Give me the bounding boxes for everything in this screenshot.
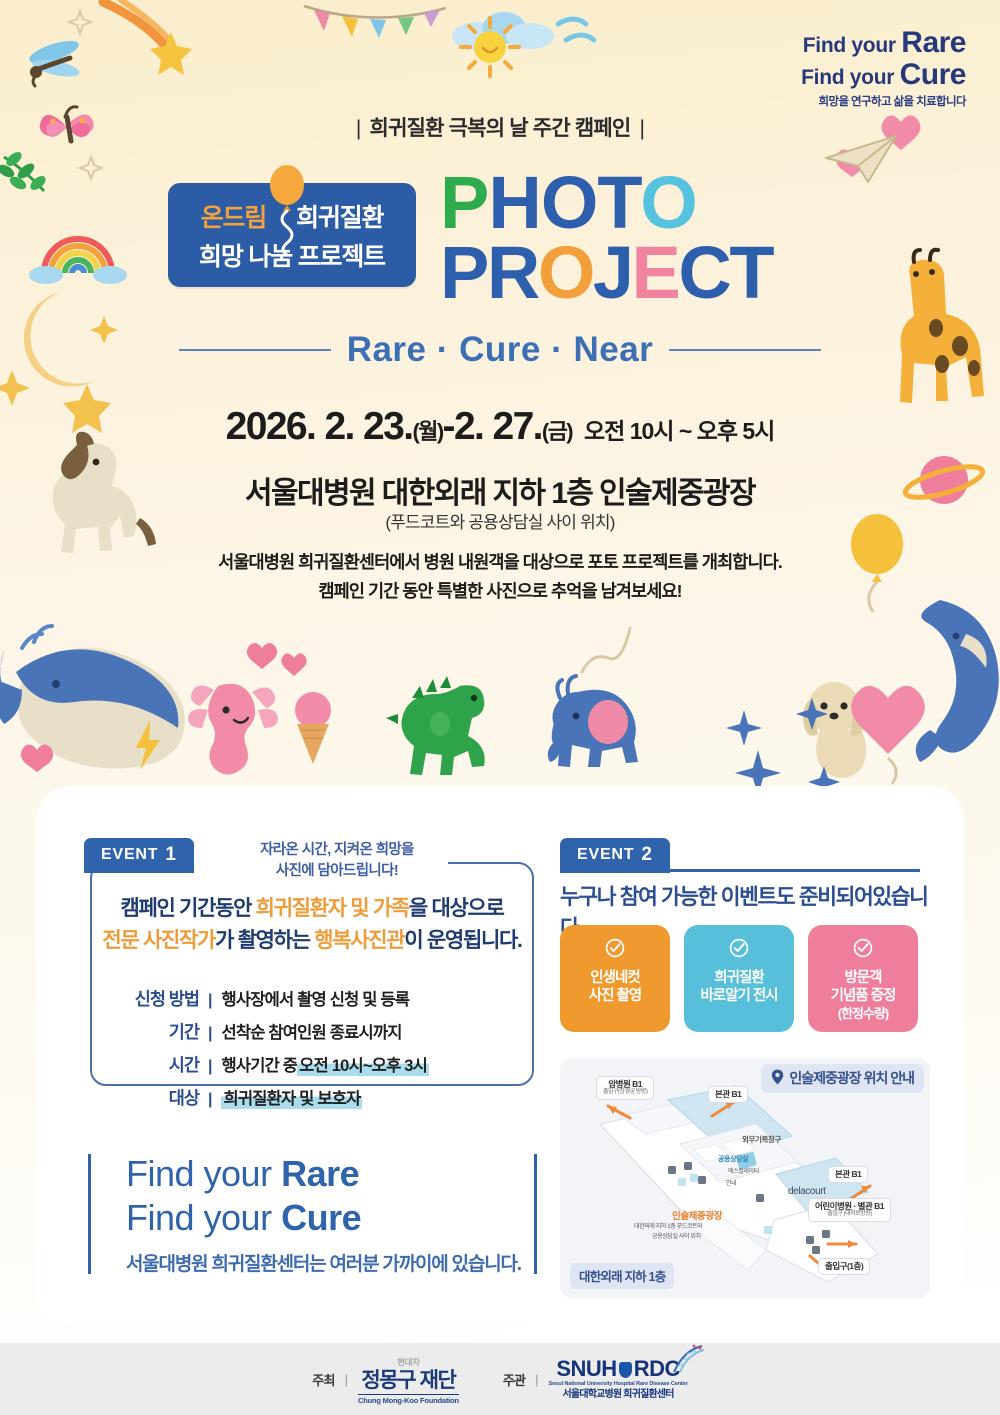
brandmark: Find your Rare Find your Cure 희망을 연구하고 삶…: [801, 28, 966, 109]
event2-card-label: 인생네컷 사진 촬영: [589, 969, 641, 1005]
sparkle-doodle: [78, 155, 104, 181]
check-icon: [605, 938, 625, 963]
dragonfly-doodle: [18, 30, 108, 100]
hearts-pair-doodle: [246, 638, 316, 708]
heart-balloon-doodle: [848, 664, 958, 784]
footer-bar: 주최 | 현대차 정몽구 재단 Chung Mong-Koo Foundatio…: [0, 1343, 1000, 1415]
event1-headline-2a: 전문 사진작가: [102, 929, 215, 952]
detail-row: 시간| 행사기간 중 오전 10시~오후 3시: [90, 1052, 534, 1077]
shield-icon: [619, 1362, 632, 1378]
snuh-logo-sub-ko: 서울대학교병원 희귀질환센터: [549, 1390, 688, 1400]
wordmark-line2-text: PROJECT: [440, 231, 774, 314]
snuh-rdc-wordmark: SNUH RDC: [549, 1358, 688, 1380]
event2-card-label: 희귀질환 바로알기 전시: [700, 969, 777, 1005]
map-label: 어린이병원 · 별관 B1 출입구 (대학로방향): [808, 1198, 891, 1222]
event1-headline-row2: 전문 사진작가가 촬영하는 행복사진관이 운영됩니다.: [90, 925, 534, 957]
event-place: 서울대병원 대한외래 지하 1층 인술제중광장: [0, 468, 1000, 512]
slogan-line2-prefix: Find your: [126, 1197, 281, 1238]
detail-value: 행사장에서 촬영 신청 및 등록: [221, 986, 409, 1010]
event2-card[interactable]: 방문객 기념품 증정 (한정수량): [808, 925, 918, 1032]
detail-row: 기간| 선착순 참여인원 종료시까지: [90, 1019, 534, 1044]
tagline-rule-right: [669, 349, 821, 351]
cmk-logo-main: 정몽구 재단: [358, 1370, 459, 1395]
event2-card-line3: (한정수량): [838, 1006, 889, 1021]
map-highlight-sub-line2: 공용상담실 사이 위치: [652, 1233, 701, 1241]
cmk-logo-top: 현대차: [397, 1357, 419, 1367]
sun-doodle: [455, 12, 525, 82]
map-text: 에스컬레이터: [728, 1168, 759, 1176]
map-floor-badge: 대한외래 지하 1층: [570, 1263, 674, 1289]
check-icon: [729, 938, 749, 963]
event2-card[interactable]: 희귀질환 바로알기 전시: [684, 925, 794, 1032]
brandmark-subtitle: 희망을 연구하고 삶을 치료합니다: [801, 97, 966, 109]
event2-rule: [560, 869, 920, 872]
slogan-block: Find your Rare Find your Cure 서울대병원 희귀질환…: [88, 1152, 538, 1276]
event2-card-line2: 사진 촬영: [589, 988, 641, 1004]
map-label: 본관 B1: [708, 1086, 748, 1103]
detail-key: 대상: [90, 1085, 208, 1110]
photo-project-wordmark: PHOTO PROJECT: [440, 170, 840, 320]
event2-tab[interactable]: EVENT2: [560, 838, 670, 873]
rare-cure-near-tagline: Rare · Cure · Near: [0, 330, 1000, 370]
brandmark-line2-word: Cure: [900, 58, 966, 91]
event2-card-label: 방문객 기념품 증정 (한정수량): [831, 969, 896, 1023]
snuh-rdc-logo: SNUH RDC Seoul National University Hospi…: [549, 1358, 688, 1400]
host-role-label: 주최: [312, 1370, 334, 1389]
dna-icon: [670, 1344, 704, 1378]
event1-headline: 캠페인 기간동안 희귀질환자 및 가족을 대상으로 전문 사진작가가 촬영하는 …: [90, 893, 534, 956]
slogan-rule-left: [88, 1154, 91, 1274]
event1-headline-1c: 을 대상으로: [409, 897, 504, 920]
kicker-bar-left: |: [356, 117, 361, 140]
event2-card-line2: 기념품 증정: [831, 988, 896, 1004]
detail-value-plain: 행사기간 중: [221, 1052, 297, 1076]
event2-card-line1: 방문객: [844, 970, 881, 986]
event1-tab-inner: EVENT1: [84, 838, 194, 873]
map-label-sub: 출입구 (대학로방향): [815, 1211, 884, 1218]
event1-headline-2d: 이 운영됩니다.: [404, 929, 521, 952]
event1-detail-list: 신청 방법| 행사장에서 촬영 신청 및 등록 기간| 선착순 참여인원 종료시…: [90, 986, 534, 1118]
location-pin-icon: [771, 1069, 784, 1088]
date-dash: -: [443, 405, 454, 448]
kicker-bar-right: |: [639, 117, 644, 140]
slogan-line1-prefix: Find your: [126, 1153, 281, 1194]
event2-card-line1: 인생네컷: [590, 970, 639, 986]
event1-headline-row1: 캠페인 기간동안 희귀질환자 및 가족을 대상으로: [90, 893, 534, 925]
event-description-line2: 캠페인 기간 동안 특별한 사진으로 추억을 남겨보세요!: [0, 577, 1000, 606]
date-start: 2026. 2. 23.: [226, 405, 413, 448]
event2-card-line2: 바로알기 전시: [700, 988, 777, 1004]
star-burst-doodle: [720, 690, 840, 800]
tagline-text: Rare · Cure · Near: [347, 330, 654, 370]
brandmark-line2-prefix: Find your: [801, 66, 900, 89]
slogan-line1-bold: Rare: [281, 1153, 359, 1194]
event-description: 서울대병원 희귀질환센터에서 병원 내원객을 대상으로 포토 프로젝트를 개최합…: [0, 548, 1000, 606]
chung-mong-koo-foundation-logo: 현대차 정몽구 재단 Chung Mong-Koo Foundation: [358, 1353, 459, 1405]
event-dateline: 2026. 2. 23.(월)-2. 27.(금)오전 10시 ~ 오후 5시: [0, 405, 1000, 449]
slogan-rule-right: [534, 1154, 537, 1274]
location-map-panel[interactable]: 암병원 B1 출입구(창경궁 방향) 본관 B1 본관 B1 어린이병원 · 별…: [560, 1058, 930, 1298]
badge-line1: 온드림희귀질환: [201, 198, 384, 234]
event2-tab-inner: EVENT2: [560, 838, 670, 873]
detail-value: 오전 10시~오후 3시: [297, 1052, 429, 1076]
squiggle-doodle: [572, 618, 642, 678]
snuh-text: SNUH: [556, 1358, 616, 1380]
event1-tab-number: 1: [165, 844, 176, 866]
event1-tagline-line1: 자라온 시간, 지켜온 희망을: [232, 840, 442, 861]
event2-card[interactable]: 인생네컷 사진 촬영: [560, 925, 670, 1032]
map-label: 암병원 B1 출입구(창경궁 방향): [596, 1076, 654, 1100]
dinosaur-doodle: [382, 672, 502, 776]
event-description-line1: 서울대병원 희귀질환센터에서 병원 내원객을 대상으로 포토 프로젝트를 개최합…: [0, 548, 1000, 577]
map-label: 출입구(1층): [818, 1258, 870, 1275]
detail-row: 대상| 희귀질환자 및 보호자: [90, 1085, 534, 1110]
badge-line1-highlight: 온드림: [201, 204, 266, 232]
map-highlight-label: 인술제중광장: [672, 1208, 722, 1222]
bunting-doodle: [300, 0, 450, 50]
dolphin-doodle: [900, 590, 1000, 770]
check-icon: [853, 938, 873, 963]
detail-key: 시간: [90, 1052, 208, 1077]
map-text: 안내: [726, 1180, 736, 1188]
map-banner-text: 인술제중광장 위치 안내: [789, 1068, 914, 1088]
tagline-rule-left: [179, 349, 331, 351]
heart-doodle-2: [835, 145, 869, 177]
leaf-doodle: [0, 145, 60, 205]
axolotl-doodle: [178, 670, 288, 780]
event1-tab[interactable]: EVENT1: [84, 838, 194, 873]
poster-root: Find your Rare Find your Cure 희망을 연구하고 삶…: [0, 0, 1000, 1415]
elephant-doodle: [532, 676, 662, 776]
map-label-title: 본관 B1: [835, 1169, 861, 1179]
small-star-doodle: [66, 8, 94, 36]
event2-tab-number: 2: [641, 844, 652, 866]
map-text: 공용상담실: [718, 1154, 748, 1164]
whale-doodle: [0, 600, 230, 790]
event-time: 오전 10시 ~ 오후 5시: [584, 418, 774, 444]
map-text: 외무기록창구: [742, 1134, 781, 1145]
badge-line2: 희망 나눔 프로젝트: [199, 237, 385, 273]
event2-card-line1: 희귀질환: [714, 970, 763, 986]
map-banner: 인술제중광장 위치 안내: [761, 1064, 924, 1093]
event1-headline-1a: 캠페인 기간동안: [120, 897, 255, 920]
host-divider: |: [345, 1372, 348, 1387]
day-start: (월): [412, 419, 442, 444]
ondream-badge: 온드림희귀질환 희망 나눔 프로젝트: [168, 183, 416, 287]
event1-headline-1b: 희귀질환자 및 가족: [256, 897, 409, 920]
map-label: 본관 B1: [828, 1166, 868, 1183]
snuh-logo-sub-en: Seoul National University Hospital Rare …: [549, 1382, 688, 1388]
map-label-title: 출입구(1층): [825, 1261, 863, 1271]
detail-key: 기간: [90, 1019, 208, 1044]
lightning-doodle: [130, 718, 166, 772]
slogan-line2-bold: Cure: [281, 1197, 361, 1238]
campaign-kicker: |희귀질환 극복의 날 주간 캠페인|: [0, 112, 1000, 142]
cloud-doodle: [430, 0, 610, 70]
event1-tagline-line2: 사진에 담아드립니다!: [232, 861, 442, 882]
cmk-logo-sub: Chung Mong-Koo Foundation: [358, 1397, 459, 1405]
host-group: 주최 | 현대차 정몽구 재단 Chung Mong-Koo Foundatio…: [312, 1353, 459, 1405]
event-place-sub: (푸드코트와 공용상담실 사이 위치): [0, 508, 1000, 533]
detail-value: 선착순 참여인원 종료시까지: [221, 1019, 401, 1043]
organizer-divider: |: [535, 1372, 538, 1387]
map-text: delacourt: [788, 1186, 826, 1197]
puppy-doodle: [790, 672, 880, 782]
detail-key: 신청 방법: [90, 986, 208, 1011]
rainbow-doodle: [30, 215, 130, 285]
map-highlight-sub-line1: 대한외래 지하 1층 푸드코트와: [634, 1223, 702, 1231]
event1-tagline: 자라온 시간, 지켜온 희망을 사진에 담아드립니다!: [232, 840, 442, 882]
detail-value: 희귀질환자 및 보호자: [221, 1085, 362, 1109]
map-label-title: 본관 B1: [715, 1089, 741, 1099]
shooting-star-doodle: [95, 0, 215, 80]
slogan-line3: 서울대병원 희귀질환센터는 여러분 가까이에 있습니다.: [126, 1253, 538, 1276]
brandmark-line1-word: Rare: [901, 26, 966, 59]
heart-doodle-3: [20, 740, 54, 772]
event1-tab-label: EVENT: [101, 846, 158, 864]
slogan-line1: Find your Rare: [126, 1152, 538, 1196]
event2-card-list: 인생네컷 사진 촬영 희귀질환 바로알기 전시 방문객 기념품 증정 (한정수량…: [560, 925, 918, 1032]
icecream-doodle: [285, 688, 341, 768]
slogan-line2: Find your Cure: [126, 1196, 538, 1240]
map-label-title: 암병원 B1: [608, 1079, 642, 1089]
organizer-group: 주관 | SNUH RDC Seoul Natio: [503, 1358, 688, 1400]
map-label-title: 어린이병원 · 별관 B1: [815, 1201, 884, 1211]
event2-tab-label: EVENT: [577, 846, 634, 864]
map-label-sub: 출입구(창경궁 방향): [603, 1089, 647, 1096]
date-end: 2. 27.: [454, 405, 542, 448]
kicker-text: 희귀질환 극복의 날 주간 캠페인: [370, 117, 631, 140]
event1-headline-2c: 행복사진관: [314, 929, 404, 952]
brandmark-line1-prefix: Find your: [803, 34, 902, 57]
detail-row: 신청 방법| 행사장에서 촬영 신청 및 등록: [90, 986, 534, 1011]
event1-headline-2b: 가 촬영하는: [215, 929, 314, 952]
badge-line1-rest: 희귀질환: [296, 204, 383, 232]
day-end: (금): [542, 419, 572, 444]
organizer-role-label: 주관: [503, 1370, 525, 1389]
